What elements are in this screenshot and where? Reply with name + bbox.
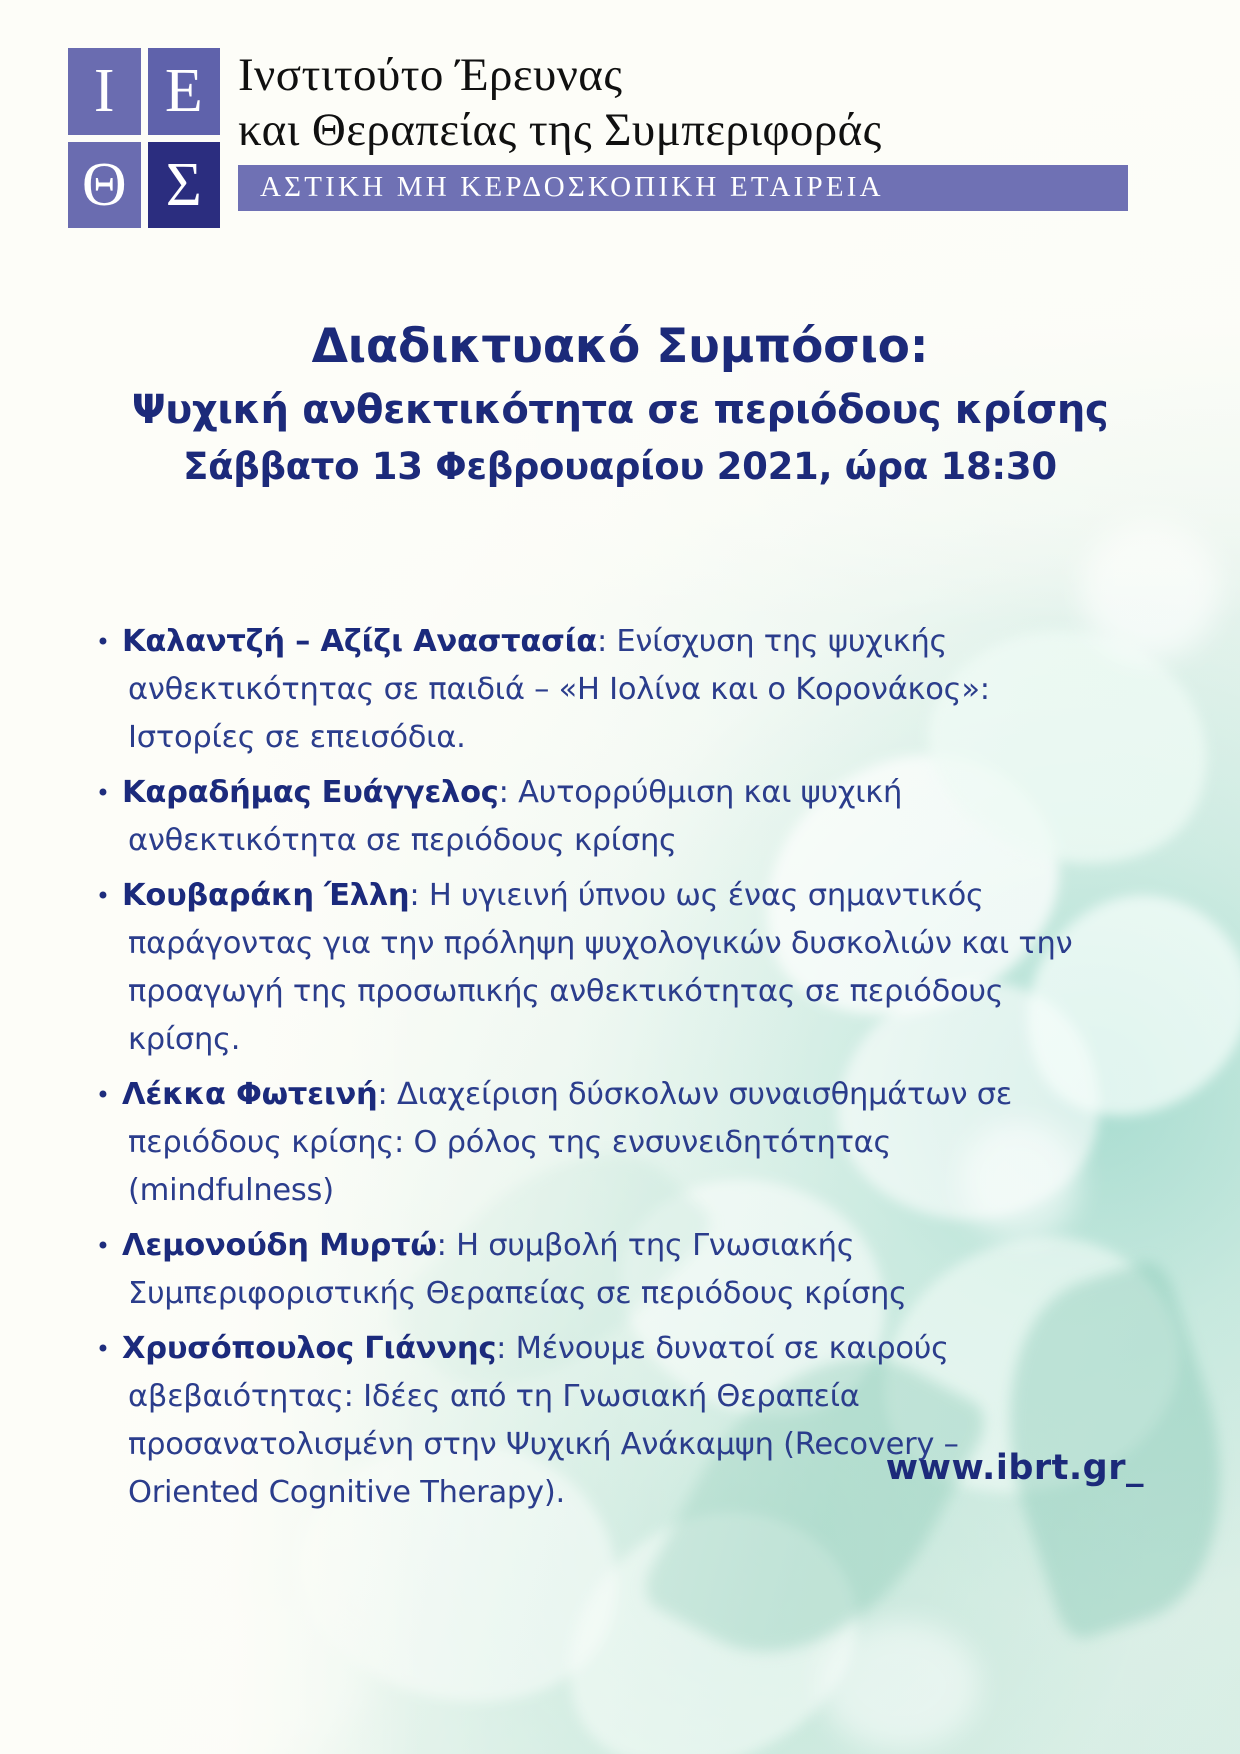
- speaker-entry: Λεμονούδη Μυρτώ: Η συμβολή της Γνωσιακής…: [122, 1222, 1094, 1318]
- organization-legal-status-banner: ΑΣΤΙΚΗ ΜΗ ΚΕΡΔΟΣΚΟΠΙΚΗ ΕΤΑΙΡΕΙΑ: [238, 165, 1128, 211]
- logo-tile-iota: Ι: [68, 48, 141, 135]
- speaker-name: Χρυσόπουλος Γιάννης: [122, 1331, 496, 1366]
- list-item: • Καλαντζή – Αζίζι Αναστασία: Ενίσχυση τ…: [84, 618, 1094, 762]
- speaker-entry: Καραδήμας Ευάγγελος: Αυτορρύθμιση και ψυ…: [122, 769, 1094, 865]
- list-item: • Λέκκα Φωτεινή: Διαχείριση δύσκολων συν…: [84, 1071, 1094, 1215]
- speaker-name: Καλαντζή – Αζίζι Αναστασία: [122, 624, 597, 659]
- website-url[interactable]: www.ibrt.gr_: [886, 1448, 1144, 1488]
- list-item: • Καραδήμας Ευάγγελος: Αυτορρύθμιση και …: [84, 769, 1094, 865]
- bullet-icon: •: [84, 1325, 122, 1373]
- speaker-entry: Κουβαράκη Έλλη: Η υγιεινή ύπνου ως ένας …: [122, 872, 1094, 1064]
- organization-header: Ι Ε Θ Σ Ινστιτούτο Έρευνας και Θεραπείας…: [68, 48, 1128, 228]
- logo-tile-theta: Θ: [68, 142, 141, 229]
- speaker-entry: Χρυσόπουλος Γιάννης: Μένουμε δυνατοί σε …: [122, 1325, 1094, 1517]
- event-datetime: Σάββατο 13 Φεβρουαρίου 2021, ώρα 18:30: [0, 443, 1240, 491]
- logo-tile-sigma: Σ: [148, 142, 221, 229]
- organization-name-block: Ινστιτούτο Έρευνας και Θεραπείας της Συμ…: [238, 48, 1128, 211]
- speaker-entry: Λέκκα Φωτεινή: Διαχείριση δύσκολων συναι…: [122, 1071, 1094, 1215]
- speaker-name: Λέκκα Φωτεινή: [122, 1077, 378, 1112]
- institute-logo-icon: Ι Ε Θ Σ: [68, 48, 220, 228]
- speaker-name: Κουβαράκη Έλλη: [122, 878, 409, 913]
- event-title: Διαδικτυακό Συμπόσιο:: [0, 318, 1240, 375]
- speaker-list: • Καλαντζή – Αζίζι Αναστασία: Ενίσχυση τ…: [84, 618, 1094, 1524]
- bullet-icon: •: [84, 618, 122, 666]
- speaker-name: Καραδήμας Ευάγγελος: [122, 775, 499, 810]
- poster-canvas: Ι Ε Θ Σ Ινστιτούτο Έρευνας και Θεραπείας…: [0, 0, 1240, 1754]
- bullet-icon: •: [84, 769, 122, 817]
- speaker-entry: Καλαντζή – Αζίζι Αναστασία: Ενίσχυση της…: [122, 618, 1094, 762]
- list-item: • Λεμονούδη Μυρτώ: Η συμβολή της Γνωσιακ…: [84, 1222, 1094, 1318]
- bullet-icon: •: [84, 1222, 122, 1270]
- list-item: • Κουβαράκη Έλλη: Η υγιεινή ύπνου ως ένα…: [84, 872, 1094, 1064]
- event-title-block: Διαδικτυακό Συμπόσιο: Ψυχική ανθεκτικότη…: [0, 318, 1240, 491]
- bullet-icon: •: [84, 1071, 122, 1119]
- poster-content: Ι Ε Θ Σ Ινστιτούτο Έρευνας και Θεραπείας…: [0, 0, 1240, 1754]
- speaker-name: Λεμονούδη Μυρτώ: [122, 1228, 437, 1263]
- bullet-icon: •: [84, 872, 122, 920]
- logo-tile-epsilon: Ε: [148, 48, 221, 135]
- list-item: • Χρυσόπουλος Γιάννης: Μένουμε δυνατοί σ…: [84, 1325, 1094, 1517]
- organization-name-line-1: Ινστιτούτο Έρευνας: [238, 48, 1128, 103]
- organization-name-line-2: και Θεραπείας της Συμπεριφοράς: [238, 103, 1128, 158]
- event-subtitle: Ψυχική ανθεκτικότητα σε περιόδους κρίσης: [0, 385, 1240, 436]
